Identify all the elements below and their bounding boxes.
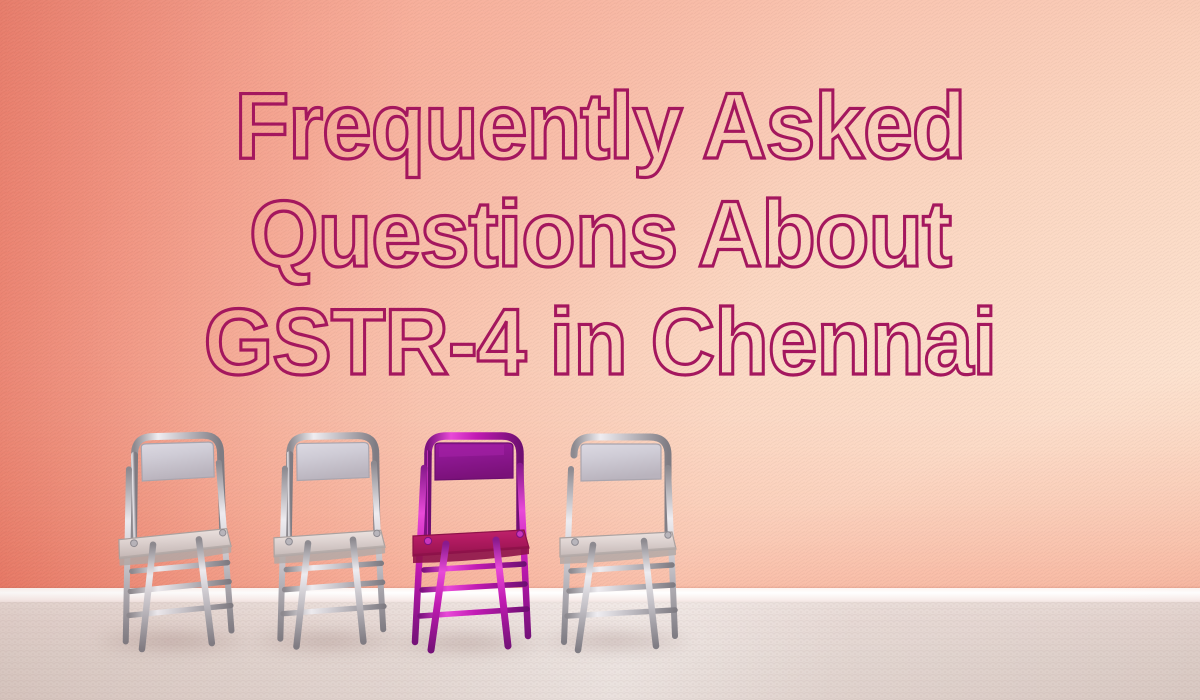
title-line-1: Frequently Asked	[30, 72, 1170, 180]
chair-svg	[544, 430, 696, 656]
chair-svg	[100, 428, 256, 657]
chair-svg	[398, 428, 548, 656]
page-title: Frequently Asked Questions About GSTR-4 …	[0, 72, 1200, 396]
chair-svg	[255, 429, 408, 656]
folding-chair-silver-4	[544, 430, 696, 656]
folding-chair-silver-1	[100, 428, 256, 657]
title-line-3: GSTR-4 in Chennai	[30, 288, 1170, 396]
faq-banner: Frequently Asked Questions About GSTR-4 …	[0, 0, 1200, 700]
title-line-2: Questions About	[30, 180, 1170, 288]
folding-chair-magenta-highlighted	[398, 428, 548, 656]
folding-chair-silver-2	[255, 429, 408, 656]
